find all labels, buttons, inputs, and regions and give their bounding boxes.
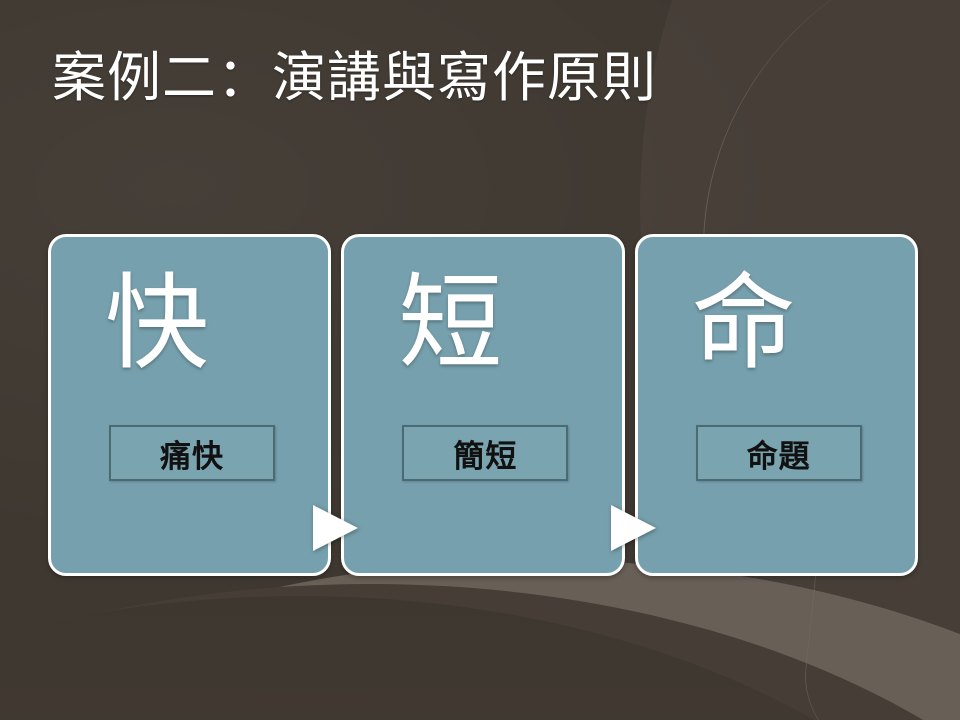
arrow-right-icon-card1-to-card2 [313,505,358,551]
concept-card-2[interactable]: 短 簡短 [341,234,624,576]
background-curve-bottom-shade [0,596,960,720]
concept-card-row: 快 痛快 短 簡短 命 命題 [48,234,918,576]
card-3-main-character: 命 [692,271,796,375]
concept-card-1[interactable]: 快 痛快 [48,234,331,576]
background-curve-bottom-light [0,560,960,720]
slide-title: 案例二：演講與寫作原則 [52,48,657,108]
background-curve-bottom-dark [0,584,960,720]
card-1-main-character: 快 [105,271,209,375]
concept-card-3[interactable]: 命 命題 [635,234,918,576]
card-1-sublabel: 痛快 [109,425,275,481]
card-2-main-character: 短 [398,271,502,375]
presentation-slide: 案例二：演講與寫作原則 快 痛快 短 簡短 命 命題 [0,0,960,720]
card-2-sublabel: 簡短 [402,425,568,481]
card-3-sublabel: 命題 [696,425,862,481]
arrow-right-icon-card2-to-card3 [611,505,656,551]
